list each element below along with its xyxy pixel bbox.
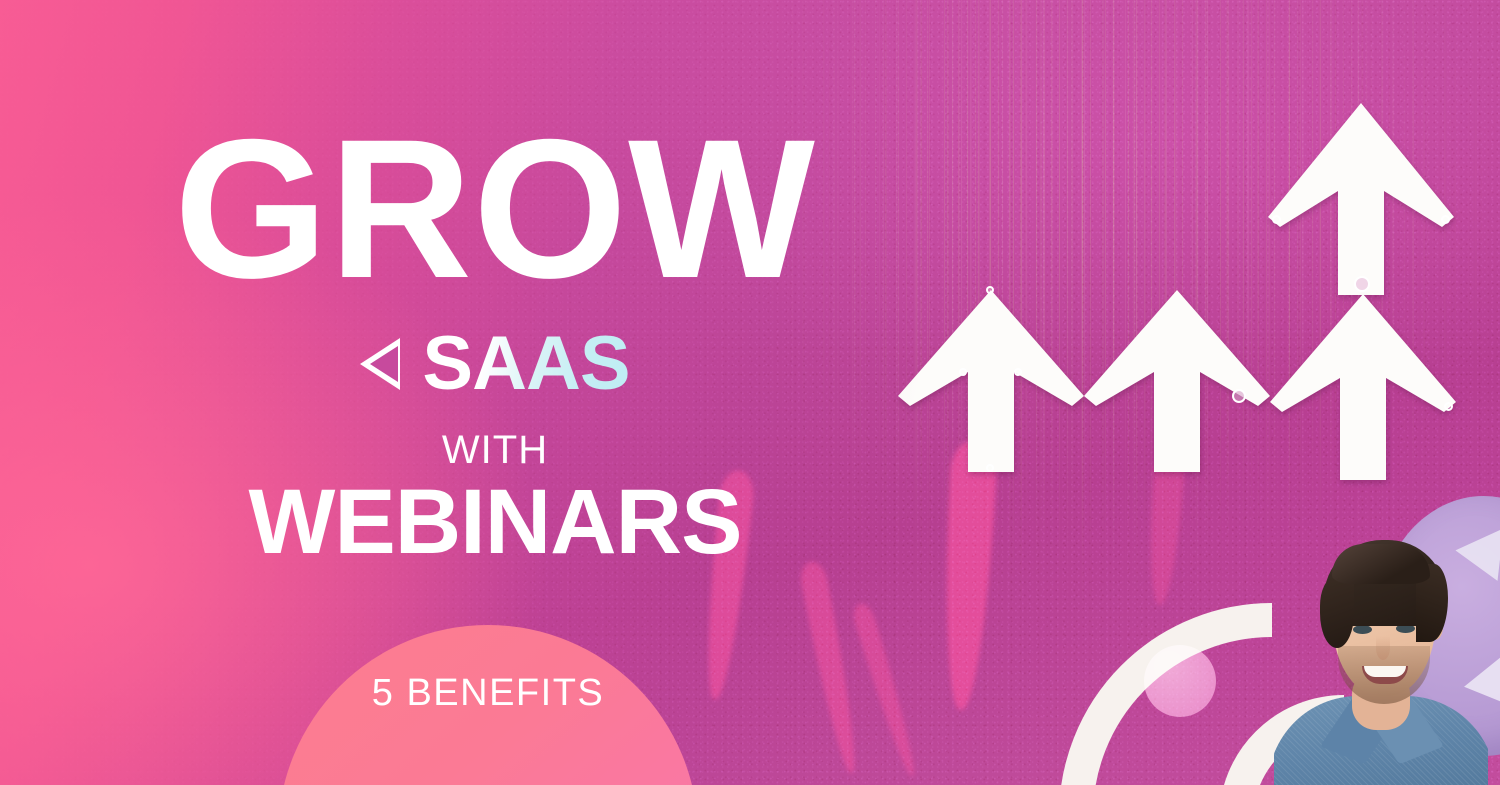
status-badge: 5 BENEFITS (278, 672, 698, 715)
topic-label: WEBINARS (155, 476, 835, 568)
connector-label: WITH (155, 428, 835, 473)
webinar-promo-banner: GROW SAAS WITH WEBINARS 5 BENEFITS (0, 0, 1500, 785)
headline-block: GROW SAAS WITH WEBINARS (0, 0, 900, 785)
saas-line: SAAS (155, 326, 835, 402)
subject-label: SAAS (422, 326, 629, 402)
play-triangle-icon (360, 338, 400, 390)
page-title: GROW (155, 110, 835, 308)
